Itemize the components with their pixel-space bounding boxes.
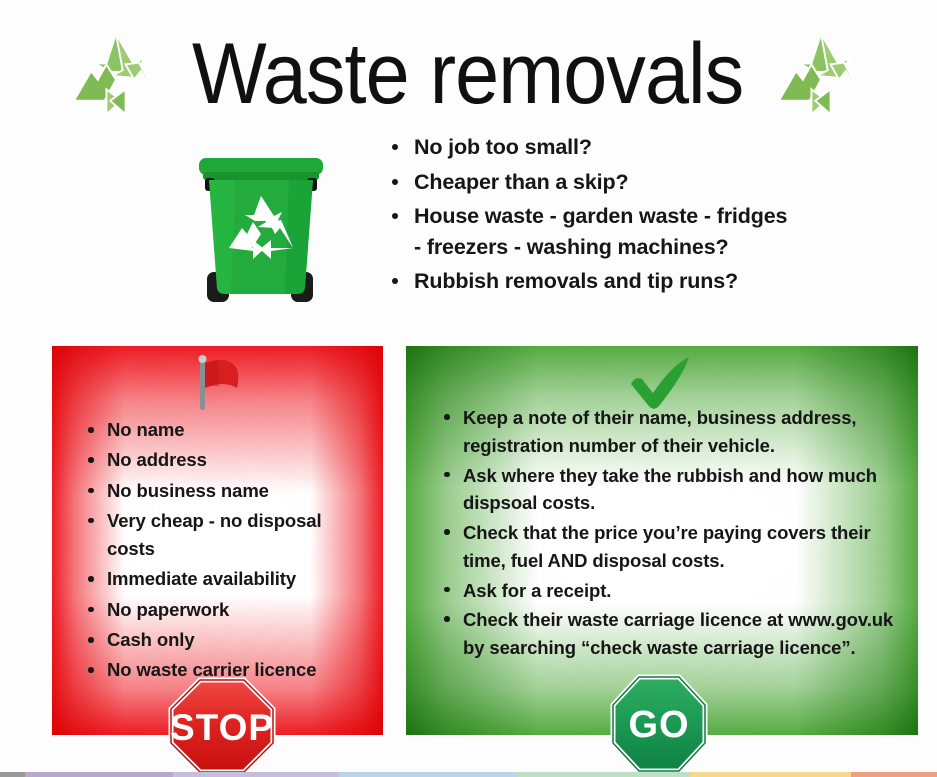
bottom-color-strip bbox=[0, 772, 937, 777]
list-item: Cash only bbox=[80, 626, 372, 654]
strip-segment bbox=[851, 772, 937, 777]
list-item: Very cheap - no disposal costs bbox=[80, 507, 372, 564]
poster-root: Waste removals bbox=[0, 0, 937, 777]
list-item: No name bbox=[80, 416, 372, 444]
advice-list: Keep a note of their name, business addr… bbox=[436, 404, 908, 664]
list-item: No business name bbox=[80, 477, 372, 505]
list-item: House waste - garden waste - fridges - f… bbox=[386, 201, 906, 262]
list-item: No address bbox=[80, 446, 372, 474]
page-title: Waste removals bbox=[192, 31, 743, 117]
warning-list: No name No address No business name Very… bbox=[80, 416, 372, 687]
strip-segment bbox=[339, 772, 518, 777]
list-item: Rubbish removals and tip runs? bbox=[386, 266, 906, 297]
strip-segment bbox=[25, 772, 173, 777]
list-item: No paperwork bbox=[80, 596, 372, 624]
list-item: Immediate availability bbox=[80, 565, 372, 593]
intro-line: No job too small? bbox=[414, 135, 592, 159]
list-item: Keep a note of their name, business addr… bbox=[436, 404, 908, 460]
intro-line: Cheaper than a skip? bbox=[414, 170, 628, 194]
strip-segment bbox=[173, 772, 339, 777]
intro-line: Rubbish removals and tip runs? bbox=[414, 269, 738, 293]
poster-header: Waste removals bbox=[0, 18, 937, 130]
strip-segment bbox=[518, 772, 691, 777]
intro-question-list: No job too small? Cheaper than a skip? H… bbox=[386, 132, 906, 301]
strip-segment bbox=[690, 772, 850, 777]
list-item: Ask for a receipt. bbox=[436, 577, 908, 605]
list-item: No job too small? bbox=[386, 132, 906, 163]
list-item: Cheaper than a skip? bbox=[386, 167, 906, 198]
recycle-icon bbox=[773, 30, 869, 118]
stop-sign-icon: STOP bbox=[167, 676, 277, 776]
go-sign-icon: GO bbox=[609, 673, 709, 775]
intro-section: No job too small? Cheaper than a skip? H… bbox=[0, 132, 937, 328]
go-sign-label: GO bbox=[628, 704, 689, 746]
intro-line-continued: - freezers - washing machines? bbox=[414, 232, 906, 263]
intro-line: House waste - garden waste - fridges bbox=[414, 204, 787, 228]
list-item: Check their waste carriage licence at ww… bbox=[436, 606, 908, 662]
stop-sign-label: STOP bbox=[170, 707, 274, 748]
green-wheelie-bin-recycle-icon bbox=[185, 150, 337, 312]
recycle-icon bbox=[68, 30, 164, 118]
list-item: Ask where they take the rubbish and how … bbox=[436, 462, 908, 518]
red-flag-icon bbox=[52, 354, 383, 416]
strip-segment bbox=[0, 772, 25, 777]
list-item: Check that the price you’re paying cover… bbox=[436, 519, 908, 575]
